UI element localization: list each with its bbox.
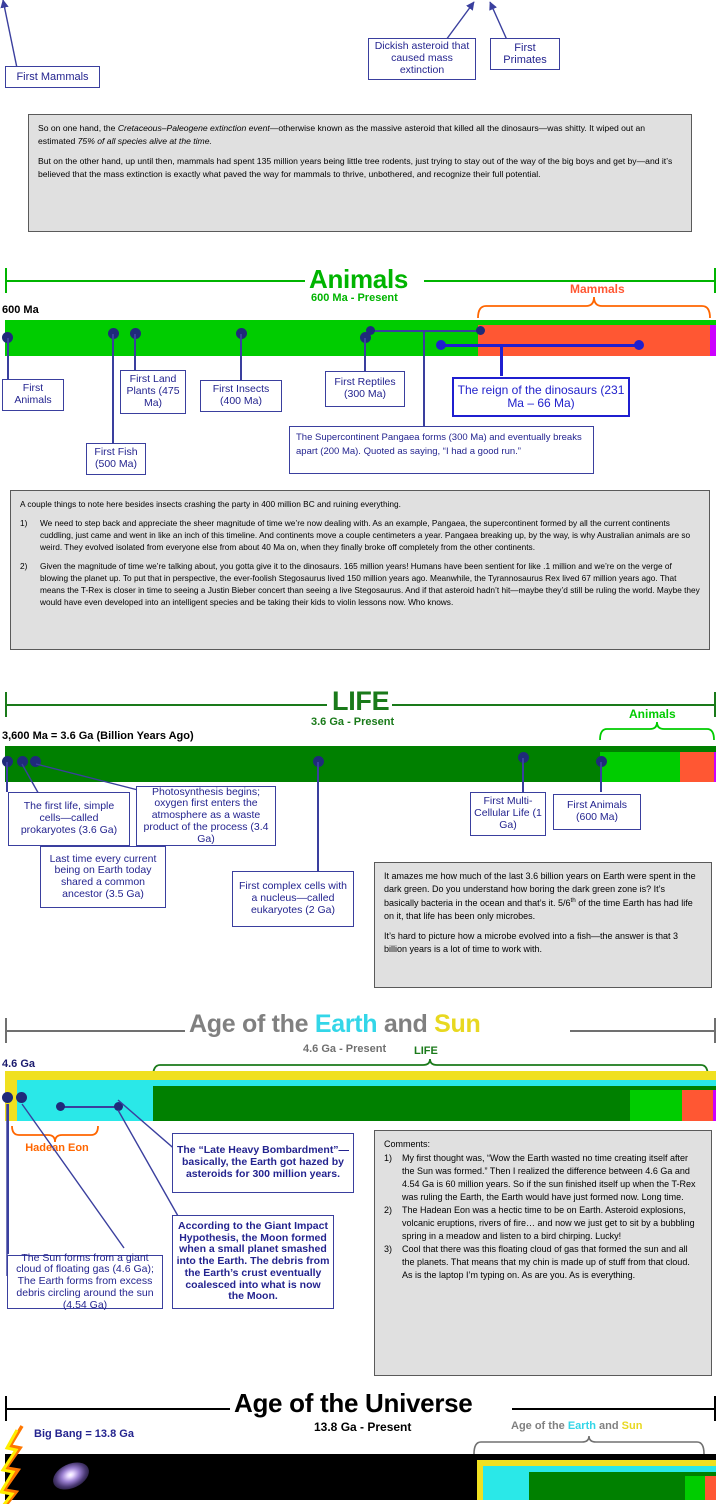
animals-rule-left: [5, 280, 305, 282]
leader-first-fish: [112, 334, 114, 444]
leader-first-land-plants: [134, 334, 136, 372]
callout-bombardment[interactable]: The “Late Heavy Bombardment”—basically, …: [172, 1133, 354, 1193]
life-tick-left: [5, 692, 7, 717]
life-scale-start: 3,600 Ma = 3.6 Ga (Billion Years Ago): [2, 730, 194, 742]
callout-life-first-animals[interactable]: First Animals (600 Ma): [553, 794, 641, 830]
callout-dinosaurs[interactable]: The reign of the dinosaurs (231 Ma – 66 …: [452, 377, 630, 417]
universe-brace-part-1: Age of the: [511, 1420, 568, 1432]
leader-eukaryotes: [317, 762, 319, 872]
animals-panel-list: 1)We need to step back and appreciate th…: [20, 517, 700, 608]
life-panel: It amazes me how much of the last 3.6 bi…: [374, 862, 712, 988]
life-animals-brace-label: Animals: [629, 707, 676, 721]
universe-brace-and: and: [596, 1420, 622, 1432]
callout-asteroid[interactable]: Dickish asteroid that caused mass extinc…: [368, 38, 476, 80]
dot-eukaryotes: [313, 756, 324, 767]
list-item: 1)We need to step back and appreciate th…: [20, 517, 700, 553]
universe-brace-label: Age of the Earth and Sun: [511, 1420, 642, 1432]
dinosaur-start-dot: [436, 340, 446, 350]
universe-title: Age of the Universe: [234, 1388, 472, 1419]
callout-first-reptiles[interactable]: First Reptiles (300 Ma): [325, 371, 405, 407]
dot-first-fish: [108, 328, 119, 339]
list-item: 2)The Hadean Eon was a hectic time to be…: [384, 1204, 702, 1243]
big-bang-icon: [0, 1424, 60, 1504]
callout-first-animals[interactable]: First Animals: [2, 379, 64, 411]
earth-panel-list: 1)My first thought was, “Wow the Earth w…: [384, 1152, 702, 1282]
leader-first-animals: [7, 338, 9, 380]
life-bar-mammals-red: [680, 752, 714, 782]
intro-paragraph-1: So on one hand, the Cretaceous–Paleogene…: [38, 122, 682, 148]
list-item: 2)Given the magnitude of time we’re talk…: [20, 560, 700, 608]
earth-title-earth: Earth: [315, 1010, 377, 1038]
mammals-brace: [476, 294, 720, 320]
callout-first-mammals[interactable]: First Mammals: [5, 66, 100, 88]
pangaea-end-dot: [476, 326, 485, 335]
callout-pangaea[interactable]: The Supercontinent Pangaea forms (300 Ma…: [289, 426, 594, 474]
intro-panel: So on one hand, the Cretaceous–Paleogene…: [28, 114, 692, 232]
leader-multicellular: [522, 758, 524, 792]
intro-paragraph-2: But on the other hand, up until then, ma…: [38, 155, 682, 181]
universe-brace-sun: Sun: [622, 1420, 643, 1432]
top-arrow-lines: [0, 0, 720, 105]
life-tick-right: [714, 692, 716, 717]
life-animals-brace: [598, 720, 720, 742]
animals-subtitle: 600 Ma - Present: [311, 292, 398, 304]
universe-section: Age of the Universe 13.8 Ga - Present Bi…: [0, 1380, 720, 1500]
pangaea-span-line: [370, 330, 480, 332]
universe-tick-left: [5, 1396, 7, 1421]
animals-title: Animals: [309, 264, 408, 295]
earth-tick-right: [714, 1018, 716, 1043]
earth-subtitle: 4.6 Ga - Present: [303, 1043, 386, 1055]
callout-first-fish[interactable]: First Fish (500 Ma): [86, 443, 146, 475]
earth-panel-heading: Comments:: [384, 1138, 702, 1151]
dot-first-land-plants: [130, 328, 141, 339]
universe-brace-earth: Earth: [568, 1420, 596, 1432]
animals-bar-primates: [710, 325, 716, 356]
animals-tick-left: [5, 268, 7, 293]
earth-rule-right: [570, 1030, 715, 1032]
animals-panel-intro: A couple things to note here besides ins…: [20, 498, 700, 510]
earth-panel: Comments: 1)My first thought was, “Wow t…: [374, 1130, 712, 1376]
life-title: LIFE: [332, 686, 389, 717]
earth-title-part-1: Age of the: [189, 1010, 315, 1038]
leader-pangaea: [423, 330, 425, 432]
callout-moon[interactable]: According to the Giant Impact Hypothesis…: [172, 1215, 334, 1309]
callout-last-common-ancestor[interactable]: Last time every current being on Earth t…: [40, 846, 166, 908]
callout-photosynthesis[interactable]: Photosynthesis begins; oxygen first ente…: [136, 786, 276, 846]
earth-life-brace-label: LIFE: [414, 1045, 438, 1057]
dot-multicellular: [518, 752, 529, 763]
callout-first-life[interactable]: The first life, simple cells—called prok…: [8, 792, 130, 846]
leader-sun-forms-vertical: [7, 1104, 9, 1254]
universe-bar-animals: [685, 1476, 705, 1500]
life-rule-right: [392, 704, 715, 706]
universe-earth-brace: [472, 1434, 720, 1456]
animals-section: Animals 600 Ma - Present 600 Ma Mammals …: [0, 262, 720, 482]
dot-life-first-animals: [596, 756, 607, 767]
universe-tick-right: [714, 1396, 716, 1421]
top-annotations: First Mammals Dickish asteroid that caus…: [0, 0, 720, 105]
leader-life-first-animals: [600, 762, 602, 792]
animals-tick-right: [714, 268, 716, 293]
earth-tick-left: [5, 1018, 7, 1043]
callout-first-primates[interactable]: First Primates: [490, 38, 560, 70]
callout-first-insects[interactable]: First Insects (400 Ma): [200, 380, 282, 412]
dinosaur-end-dot: [634, 340, 644, 350]
life-rule-left: [5, 704, 327, 706]
callout-multicellular[interactable]: First Multi-Cellular Life (1 Ga): [470, 792, 546, 836]
universe-rule-right: [512, 1408, 715, 1410]
callout-first-land-plants[interactable]: First Land Plants (475 Ma): [120, 370, 186, 414]
list-item: 3)Cool that there was this floating clou…: [384, 1243, 702, 1282]
earth-title-and: and: [377, 1010, 434, 1038]
list-item: 1)My first thought was, “Wow the Earth w…: [384, 1152, 702, 1204]
earth-title: Age of the Earth and Sun: [189, 1010, 480, 1039]
pangaea-start-dot: [366, 326, 375, 335]
earth-bar-primates: [713, 1090, 716, 1121]
leader-dinosaurs: [500, 346, 503, 376]
earth-rule-left: [5, 1030, 185, 1032]
earth-scale-start: 4.6 Ga: [2, 1058, 35, 1070]
animals-bar-mammals: [478, 325, 710, 356]
leader-first-insects: [240, 334, 242, 380]
life-panel-paragraph-2: It’s hard to picture how a microbe evolv…: [384, 930, 702, 956]
callout-sun-forms[interactable]: The Sun forms from a giant cloud of floa…: [7, 1255, 163, 1309]
life-subtitle: 3.6 Ga - Present: [311, 716, 394, 728]
animals-panel: A couple things to note here besides ins…: [10, 490, 710, 650]
dot-first-insects: [236, 328, 247, 339]
callout-eukaryotes[interactable]: First complex cells with a nucleus—calle…: [232, 871, 354, 927]
life-bar-animals-green: [600, 752, 680, 782]
earth-title-sun: Sun: [434, 1010, 480, 1038]
animals-scale-start: 600 Ma: [2, 304, 39, 316]
earth-bar-animals: [630, 1090, 682, 1121]
dinosaur-span-line: [440, 344, 638, 347]
life-bar-primates-purple: [714, 752, 716, 782]
universe-bar-mammals: [705, 1476, 716, 1500]
life-panel-paragraph-1: It amazes me how much of the last 3.6 bi…: [384, 870, 702, 923]
leader-first-reptiles: [364, 338, 366, 372]
earth-bar-mammals: [682, 1090, 713, 1121]
universe-rule-left: [5, 1408, 230, 1410]
universe-subtitle: 13.8 Ga - Present: [314, 1420, 411, 1434]
mammals-brace-label: Mammals: [570, 282, 625, 296]
